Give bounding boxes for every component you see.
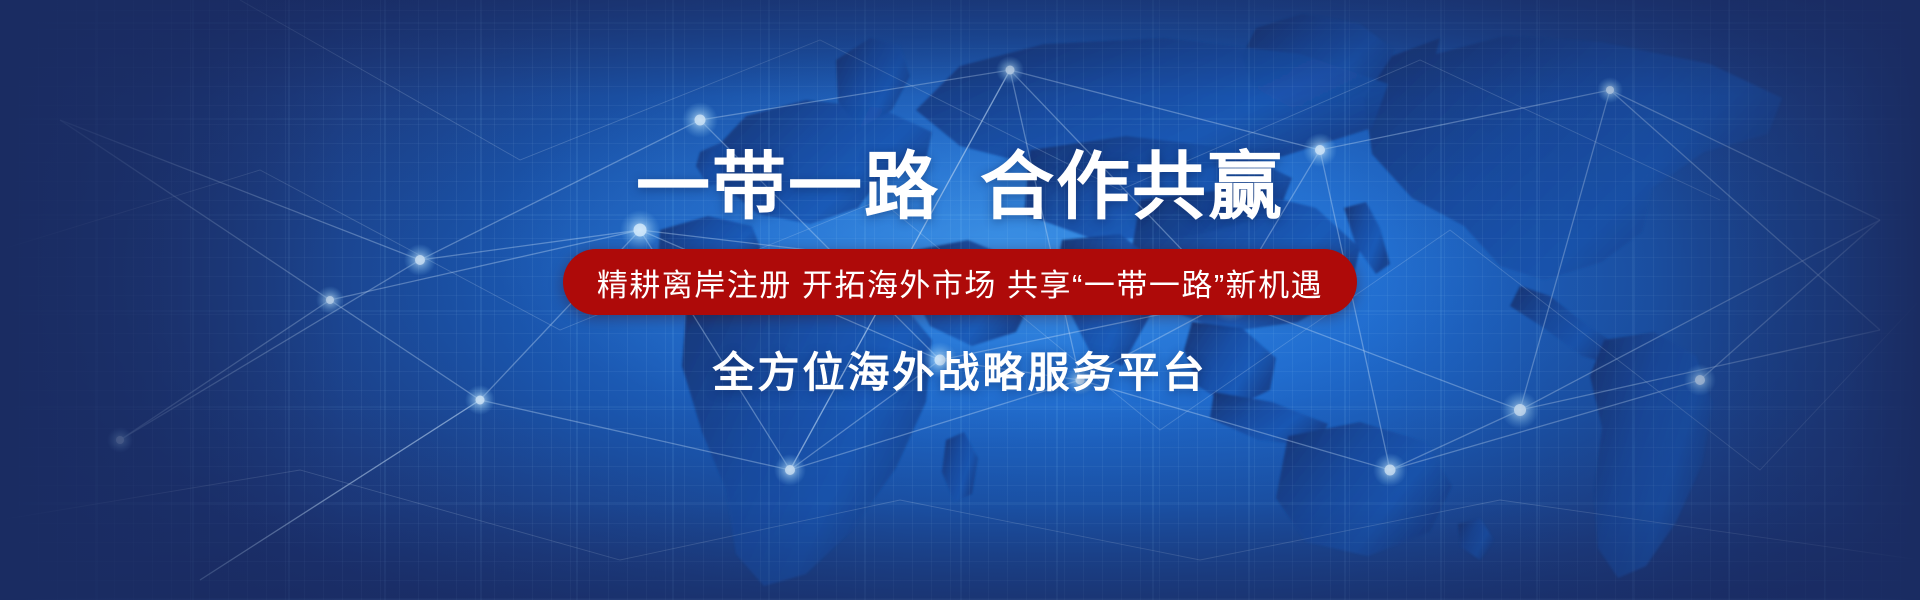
headline-part-2: 合作共赢 bbox=[980, 145, 1284, 228]
headline-part-1: 一带一路 bbox=[636, 145, 940, 228]
banner-tagline-text: 精耕离岸注册 开拓海外市场 共享“一带一路”新机遇 bbox=[597, 260, 1323, 305]
banner-headline: 一带一路合作共赢 bbox=[636, 150, 1284, 224]
promo-banner: 一带一路合作共赢 精耕离岸注册 开拓海外市场 共享“一带一路”新机遇 全方位海外… bbox=[0, 0, 1920, 600]
banner-tagline-pill: 精耕离岸注册 开拓海外市场 共享“一带一路”新机遇 bbox=[563, 249, 1357, 315]
banner-subline: 全方位海外战略服务平台 bbox=[712, 339, 1207, 400]
banner-content: 一带一路合作共赢 精耕离岸注册 开拓海外市场 共享“一带一路”新机遇 全方位海外… bbox=[0, 0, 1920, 600]
